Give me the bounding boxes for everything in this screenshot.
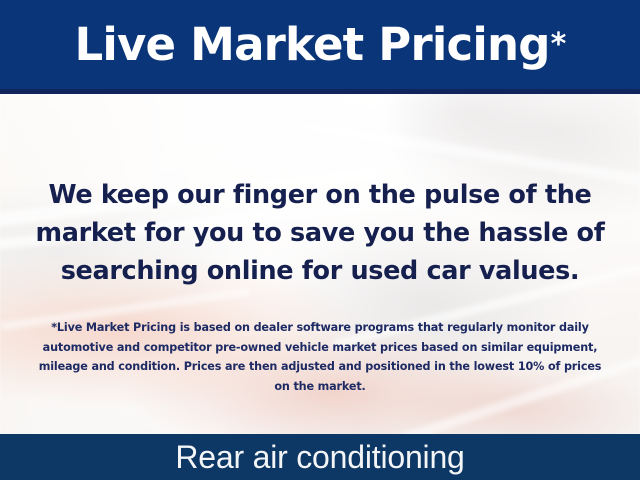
feature-label: Rear air conditioning <box>0 434 640 480</box>
page-title-asterisk: * <box>551 30 566 60</box>
page-title-text: Live Market Pricing <box>74 22 549 67</box>
headline-text: We keep our finger on the pulse of the m… <box>22 176 618 290</box>
disclaimer-text: *Live Market Pricing is based on dealer … <box>30 318 610 396</box>
header-underline-rule <box>0 89 640 94</box>
page-title: Live Market Pricing* <box>0 0 640 89</box>
live-market-pricing-slide: Live Market Pricing* We keep our finger … <box>0 0 640 480</box>
